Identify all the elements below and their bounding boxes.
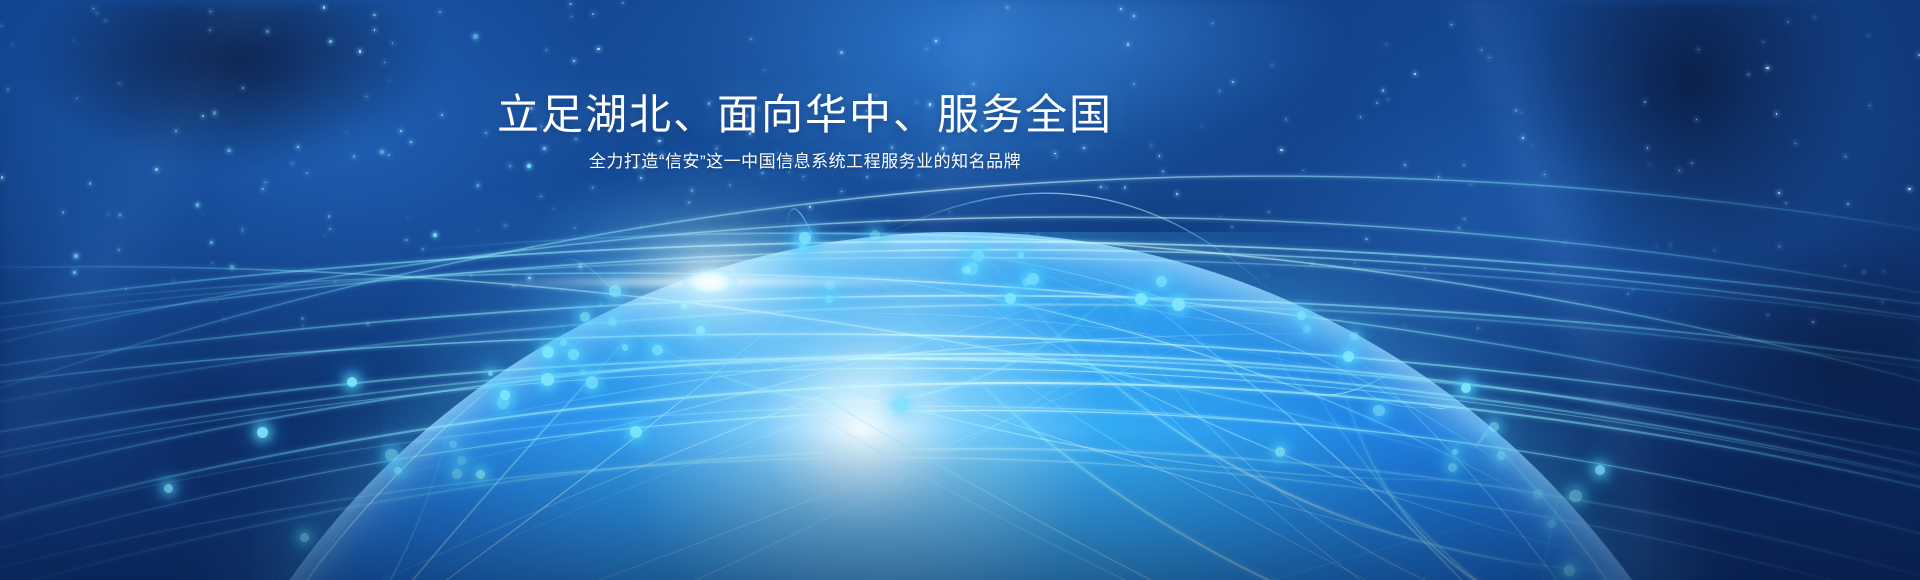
bottom-vignette bbox=[0, 430, 1920, 580]
burst-core bbox=[682, 268, 738, 296]
hero-banner: 立足湖北、面向华中、服务全国 全力打造“信安”这一中国信息系统工程服务业的知名品… bbox=[0, 0, 1920, 580]
